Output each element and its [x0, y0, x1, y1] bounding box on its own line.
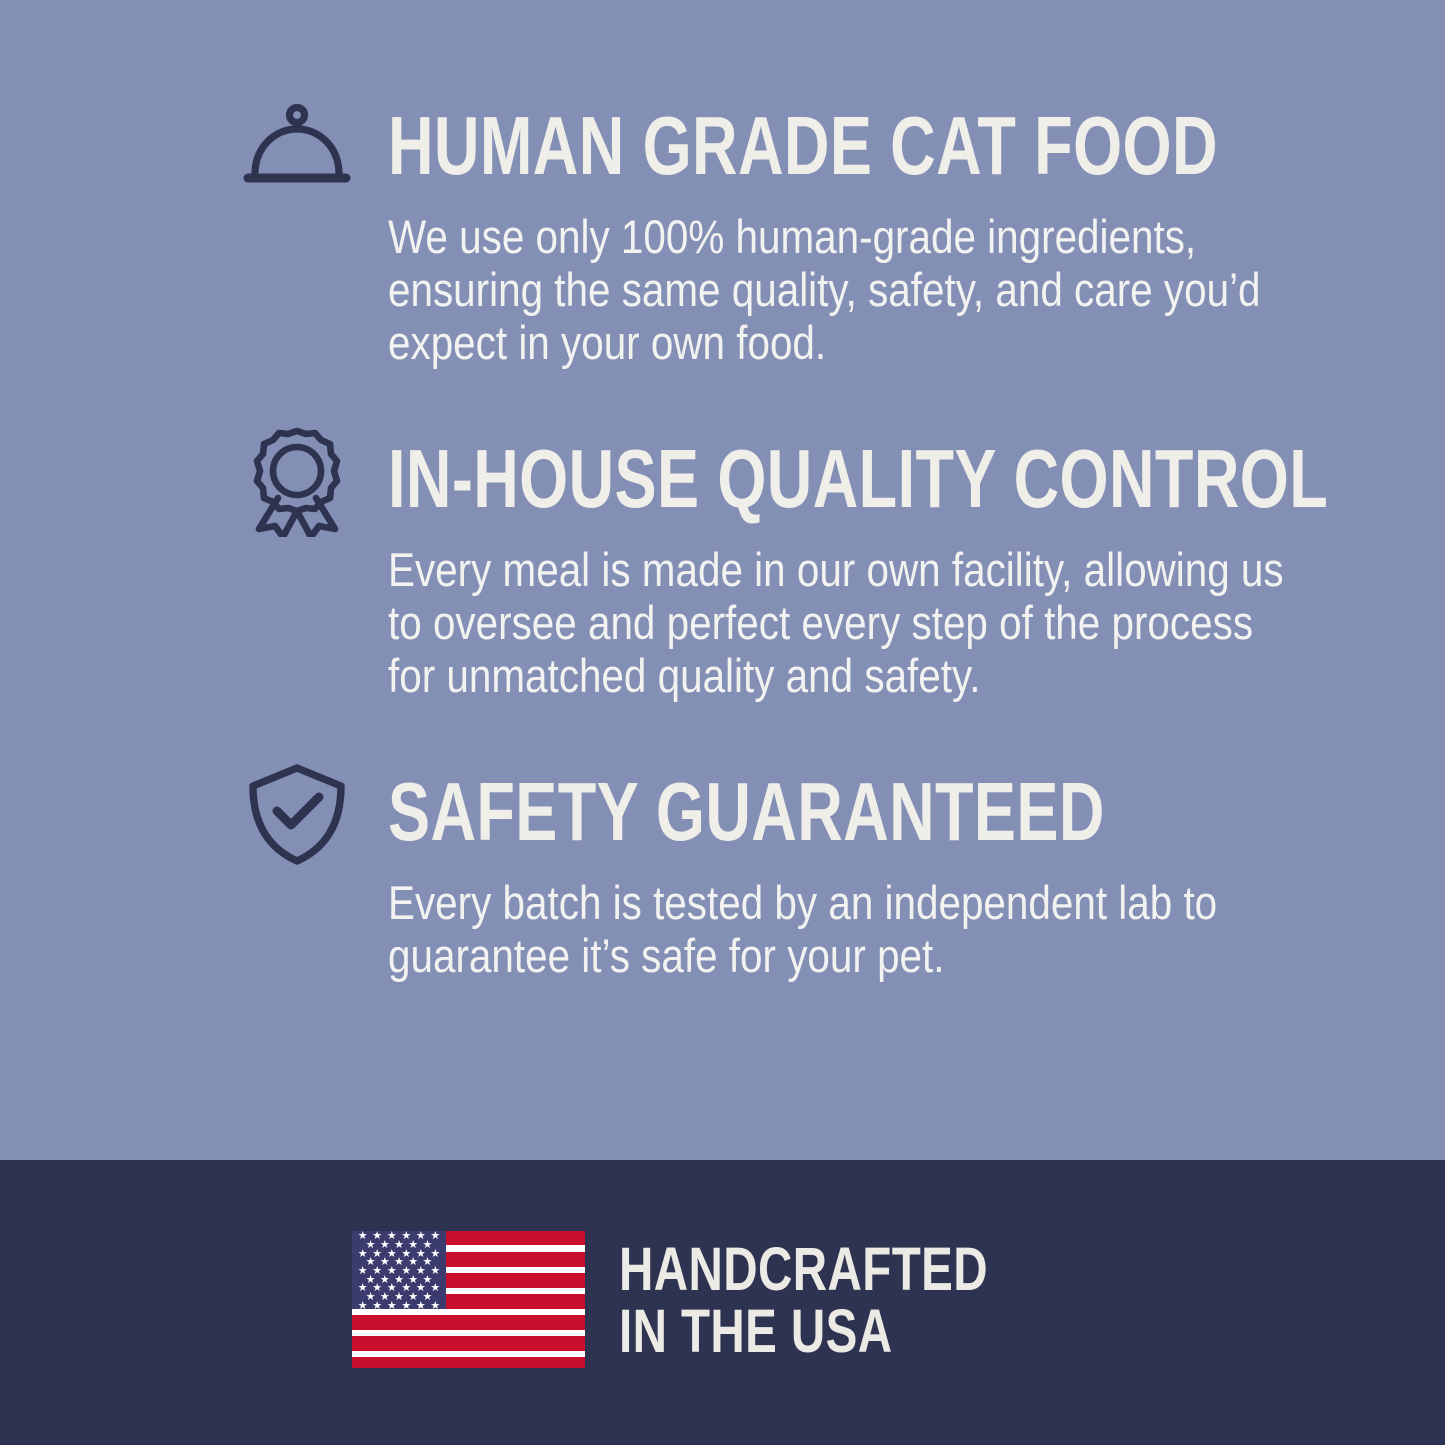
footer-band: ★★★★★★★★★★★★★★★★★★★★★★★★★★★★★★★★★★★★★★★★…: [0, 1160, 1445, 1445]
feature-body: Every batch is tested by an independent …: [388, 876, 1293, 982]
feature-body-line: Every batch is tested by an independent …: [388, 876, 1293, 929]
feature-item-human-grade: HUMAN GRADE CAT FOOD We use only 100% hu…: [0, 96, 1445, 369]
feature-title: IN-HOUSE QUALITY CONTROL: [388, 429, 1077, 529]
feature-body-line: Every meal is made in our own facility, …: [388, 543, 1293, 596]
flag-canton: ★★★★★★★★★★★★★★★★★★★★★★★★★★★★★★★★★★★★★★★★…: [352, 1231, 445, 1309]
footer-text-line-2: IN THE USA: [619, 1300, 988, 1362]
footer-text: HANDCRAFTED IN THE USA: [619, 1238, 988, 1362]
flag-star: ★: [430, 1301, 440, 1309]
flag-star: ★: [372, 1301, 382, 1309]
shield-check-icon: [238, 762, 356, 866]
flag-star: ★: [401, 1301, 411, 1309]
flag-star: ★: [358, 1301, 368, 1309]
feature-title: SAFETY GUARANTEED: [388, 762, 1077, 862]
flag-stripe: [352, 1315, 585, 1329]
cloche-icon: [238, 96, 356, 200]
feature-body-line: ensuring the same quality, safety, and c…: [388, 263, 1293, 316]
flag-stripe: [352, 1357, 585, 1368]
feature-body-line: guarantee it’s safe for your pet.: [388, 929, 1293, 982]
feature-body-line: to oversee and perfect every step of the…: [388, 596, 1293, 649]
feature-body-line: for unmatched quality and safety.: [388, 649, 1293, 702]
footer-content: ★★★★★★★★★★★★★★★★★★★★★★★★★★★★★★★★★★★★★★★★…: [352, 1231, 1092, 1368]
feature-item-quality-control: IN-HOUSE QUALITY CONTROL Every meal is m…: [0, 429, 1445, 702]
flag-star-row: ★★★★★★: [352, 1301, 445, 1309]
usa-flag-icon: ★★★★★★★★★★★★★★★★★★★★★★★★★★★★★★★★★★★★★★★★…: [352, 1231, 585, 1368]
feature-title: HUMAN GRADE CAT FOOD: [388, 96, 1077, 196]
feature-list: HUMAN GRADE CAT FOOD We use only 100% hu…: [0, 0, 1445, 1042]
flag-star: ★: [387, 1301, 397, 1309]
feature-body-line: expect in your own food.: [388, 316, 1293, 369]
feature-body-line: We use only 100% human-grade ingredients…: [388, 210, 1293, 263]
flag-stripe: [352, 1336, 585, 1350]
award-rosette-icon: [238, 429, 356, 533]
feature-body: Every meal is made in our own facility, …: [388, 543, 1293, 702]
feature-item-safety: SAFETY GUARANTEED Every batch is tested …: [0, 762, 1445, 982]
footer-text-line-1: HANDCRAFTED: [619, 1238, 988, 1300]
flag-star: ★: [416, 1301, 426, 1309]
infographic-canvas: HUMAN GRADE CAT FOOD We use only 100% hu…: [0, 0, 1445, 1445]
feature-body: We use only 100% human-grade ingredients…: [388, 210, 1293, 369]
